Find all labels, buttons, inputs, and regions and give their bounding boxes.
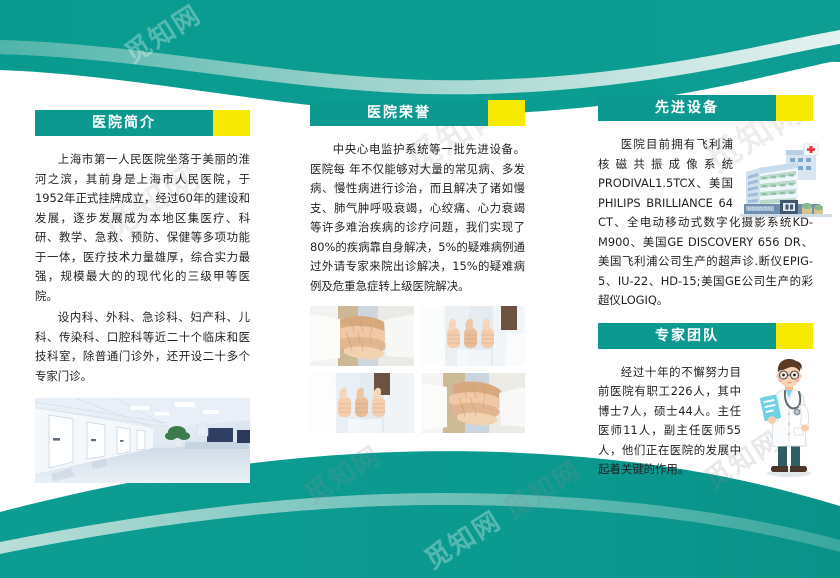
doctor-illustration [752,358,826,478]
panel-hospital-intro: 医院简介 上海市第一人民医院坐落于美丽的淮河之滨，其前身是上海市人民医院，于19… [35,110,250,483]
panel-hospital-honor: 医院荣誉 中央心电监护系统等一批先进设备。医院每 年不仅能够对大量的常见病、多发… [310,100,525,433]
watermark: 觅知网 [117,0,208,70]
header-yellow-block [488,100,525,126]
section-title: 先进设备 [598,95,776,121]
watermark: 觅知网 [297,436,388,512]
section-title: 医院荣誉 [310,100,488,126]
header-yellow-block [776,323,813,349]
paragraph: 上海市第一人民医院坐落于美丽的淮河之滨，其前身是上海市人民医院，于1952年正式… [35,150,250,306]
hospital-corridor-photo [35,398,250,483]
section-header-advanced-equipment: 先进设备 [598,95,813,121]
header-yellow-block [213,110,250,136]
brochure-page: 觅知网 觅知网 觅知网 觅知网 觅知网 觅知网 觅知网 觅知网 医院简介 上海市… [0,0,840,578]
stacked-hands-photo [421,373,525,433]
section-title: 专家团队 [598,323,776,349]
section-header-hospital-honor: 医院荣誉 [310,100,525,126]
watermark: 觅知网 [497,451,588,527]
thumbs-up-photo [421,306,525,366]
section-header-expert-team: 专家团队 [598,323,813,349]
watermark: 觅知网 [417,501,508,577]
svg-text:HOSPITAL: HOSPITAL [748,206,774,211]
section-title: 医院简介 [35,110,213,136]
stacked-hands-photo [310,306,414,366]
section-header-hospital-intro: 医院简介 [35,110,250,136]
thumbs-up-photo [310,373,414,433]
hospital-building-illustration: HOSPITAL [740,142,832,224]
paragraph: 中央心电监护系统等一批先进设备。医院每 年不仅能够对大量的常见病、多发病、慢性病… [310,140,525,296]
header-yellow-block [776,95,813,121]
teamwork-photo-grid [310,306,525,433]
paragraph: 设内科、外科、急诊科、妇产科、儿科、传染科、口腔科等近二十个临床和医技科室，除普… [35,308,250,386]
